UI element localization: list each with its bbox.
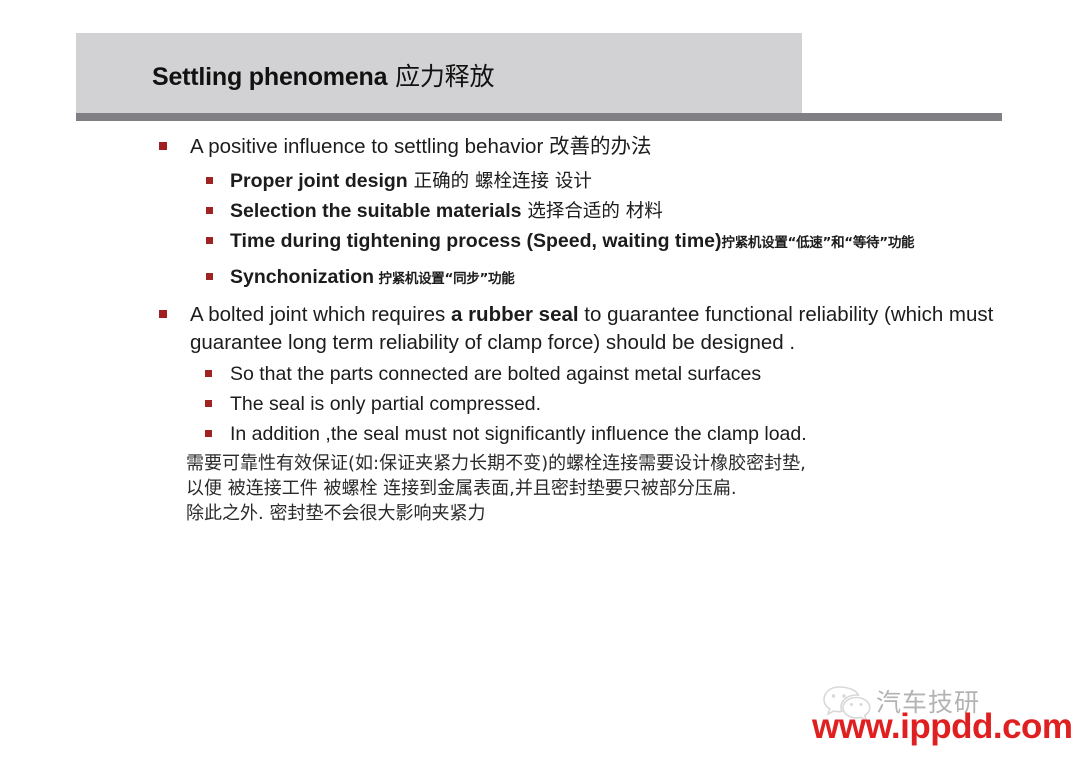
square-bullet-icon	[206, 177, 213, 184]
square-bullet-icon	[205, 370, 212, 377]
paragraph-part-1: A bolted joint which requires	[190, 303, 451, 326]
bullet-text-cn: 改善的办法	[549, 134, 652, 158]
sub-bullet-cn: 正确的 螺栓连接 设计	[408, 171, 592, 192]
chinese-line-2: 以便 被连接工件 被螺栓 连接到金属表面,并且密封垫要只被部分压扁.	[186, 476, 1080, 501]
square-bullet-icon	[205, 400, 212, 407]
bullet-bolted-joint: A bolted joint which requires a rubber s…	[0, 301, 1080, 356]
page-title-en: Settling phenomena	[152, 63, 387, 91]
bullet-text-en: A positive influence to settling behavio…	[190, 135, 549, 158]
sub-bullet-cn-small: 拧紧机设置“低速”和“等待”功能	[722, 235, 915, 251]
sub-bullet-text: So that the parts connected are bolted a…	[230, 363, 761, 385]
sub-bullet-time-during-tightening: Time during tightening process (Speed, w…	[0, 228, 1080, 256]
square-bullet-icon	[159, 142, 167, 150]
watermark-url: www.ippdd.com	[812, 707, 1073, 747]
sub-bullet-en: Selection the suitable materials	[230, 200, 522, 222]
page-title-cn: 应力释放	[387, 62, 494, 91]
square-bullet-icon	[159, 310, 167, 318]
square-bullet-icon	[206, 273, 213, 280]
sub-bullet-text: In addition ,the seal must not significa…	[230, 423, 807, 445]
sub-bullet-partial-compressed: The seal is only partial compressed.	[0, 391, 1080, 418]
sub-bullet-metal-surfaces: So that the parts connected are bolted a…	[0, 361, 1080, 388]
slide-canvas: Settling phenomena 应力释放 A positive influ…	[0, 0, 1080, 763]
chinese-summary-paragraph: 需要可靠性有效保证(如:保证夹紧力长期不变)的螺栓连接需要设计橡胶密封垫, 以便…	[0, 451, 1080, 526]
sub-bullet-clamp-load: In addition ,the seal must not significa…	[0, 421, 1080, 448]
slide-body: A positive influence to settling behavio…	[0, 133, 1080, 526]
title-divider-rule	[76, 113, 1002, 121]
chinese-line-3: 除此之外. 密封垫不会很大影响夹紧力	[186, 501, 1080, 526]
paragraph-bold-phrase: a rubber seal	[451, 303, 579, 326]
bullet-positive-influence: A positive influence to settling behavio…	[0, 133, 1070, 160]
square-bullet-icon	[205, 430, 212, 437]
sub-bullet-proper-joint-design: Proper joint design 正确的 螺栓连接 设计	[0, 168, 1080, 195]
chinese-line-1: 需要可靠性有效保证(如:保证夹紧力长期不变)的螺栓连接需要设计橡胶密封垫,	[186, 451, 1080, 476]
sub-bullet-en: Synchonization	[230, 266, 374, 288]
sub-bullet-en: Time during tightening process (Speed, w…	[230, 230, 722, 252]
sub-bullet-selection-materials: Selection the suitable materials 选择合适的 材…	[0, 198, 1080, 225]
sub-bullet-en: Proper joint design	[230, 170, 408, 192]
square-bullet-icon	[206, 237, 213, 244]
watermark: 汽车技研 www.ippdd.com	[810, 681, 1080, 763]
sub-bullet-cn: 选择合适的 材料	[522, 201, 663, 222]
page-title: Settling phenomena 应力释放	[152, 57, 494, 93]
sub-bullet-synchonization: Synchonization 拧紧机设置“同步”功能	[0, 264, 1080, 292]
sub-bullet-cn-small: 拧紧机设置“同步”功能	[374, 271, 514, 287]
square-bullet-icon	[206, 207, 213, 214]
sub-bullet-text: The seal is only partial compressed.	[230, 393, 541, 415]
